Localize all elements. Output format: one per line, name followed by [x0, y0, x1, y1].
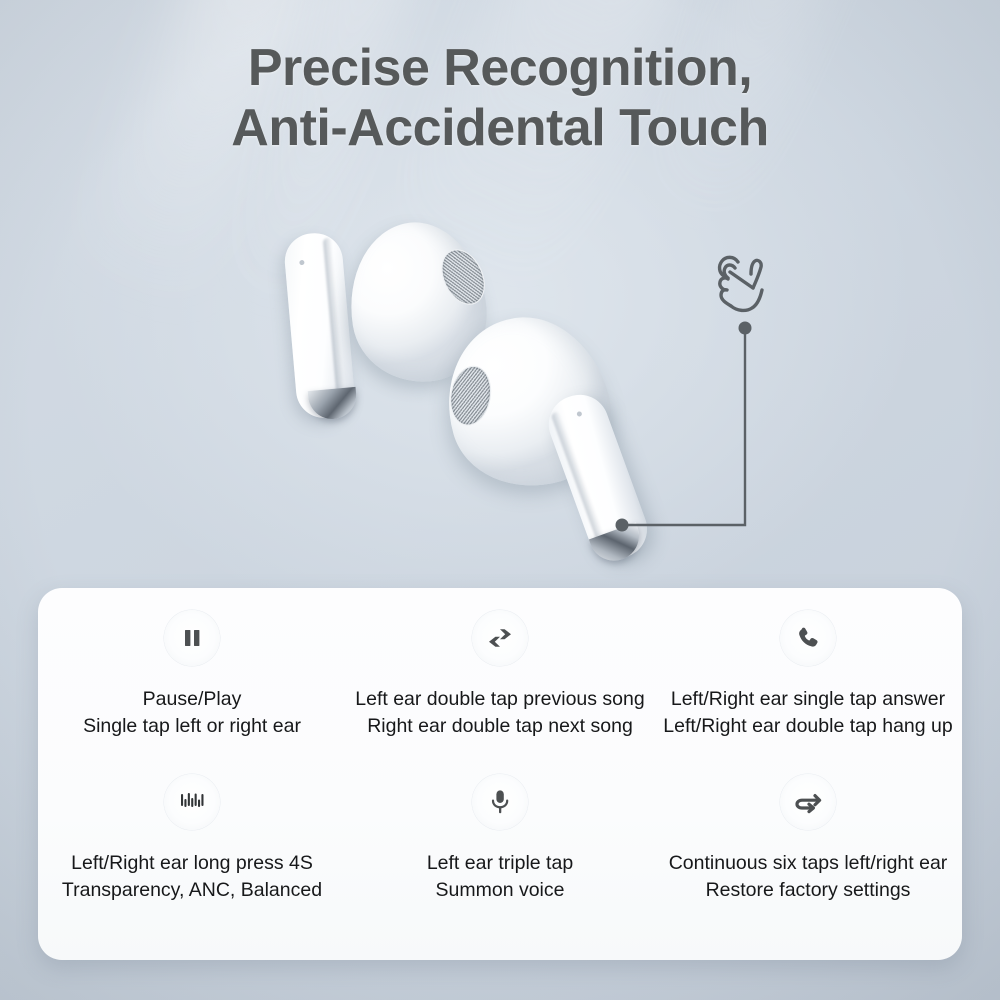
page-title-line-2: Anti-Accidental Touch: [0, 98, 1000, 158]
pause-play-icon: [164, 610, 220, 666]
sound-wave-bars-icon: [164, 774, 220, 830]
controls-row-2: Left/Right ear long press 4S Transparenc…: [38, 774, 962, 904]
control-item-pause-play[interactable]: Pause/Play Single tap left or right ear: [38, 610, 346, 740]
caption-line-1: Left/Right ear single tap answer: [671, 688, 945, 710]
swap-arrows-glyph: [485, 625, 515, 651]
control-item-voice-assistant[interactable]: Left ear triple tap Summon voice: [346, 774, 654, 904]
control-caption: Pause/Play Single tap left or right ear: [83, 686, 301, 740]
controls-row-1: Pause/Play Single tap left or right ear …: [38, 610, 962, 740]
control-item-factory-reset[interactable]: Continuous six taps left/right ear Resto…: [654, 774, 962, 904]
microphone-glyph: [488, 788, 512, 816]
loop-arrow-glyph: [793, 789, 823, 815]
control-caption: Left/Right ear single tap answer Left/Ri…: [663, 686, 952, 740]
control-caption: Left/Right ear long press 4S Transparenc…: [62, 850, 322, 904]
control-item-call[interactable]: Left/Right ear single tap answer Left/Ri…: [654, 610, 962, 740]
callout-dot-target: [616, 519, 629, 532]
pause-glyph: [179, 625, 205, 651]
caption-line-2: Right ear double tap next song: [355, 713, 644, 740]
control-caption: Left ear triple tap Summon voice: [427, 850, 573, 904]
caption-line-1: Left ear double tap previous song: [355, 688, 644, 710]
controls-panel: Pause/Play Single tap left or right ear …: [38, 588, 962, 960]
equalizer-glyph: [178, 789, 206, 815]
caption-line-2: Left/Right ear double tap hang up: [663, 713, 952, 740]
caption-line-1: Pause/Play: [143, 688, 242, 710]
callout-elbow-path: [627, 328, 745, 525]
reset-swap-arrow-icon: [780, 774, 836, 830]
caption-line-2: Restore factory settings: [669, 877, 948, 904]
phone-glyph: [795, 625, 822, 652]
control-caption: Continuous six taps left/right ear Resto…: [669, 850, 948, 904]
page-title: Precise Recognition, Anti-Accidental Tou…: [0, 38, 1000, 159]
phone-handset-icon: [780, 610, 836, 666]
callout-connector: [600, 240, 830, 560]
microphone-icon: [472, 774, 528, 830]
double-arrow-horizontal-icon: [472, 610, 528, 666]
caption-line-2: Transparency, ANC, Balanced: [62, 877, 322, 904]
touch-callout: [600, 240, 830, 560]
control-item-track-change[interactable]: Left ear double tap previous song Right …: [346, 610, 654, 740]
caption-line-1: Continuous six taps left/right ear: [669, 852, 948, 874]
control-item-noise-mode[interactable]: Left/Right ear long press 4S Transparenc…: [38, 774, 346, 904]
caption-line-1: Left ear triple tap: [427, 852, 573, 874]
caption-line-2: Summon voice: [427, 877, 573, 904]
page-title-line-1: Precise Recognition,: [248, 39, 752, 97]
caption-line-1: Left/Right ear long press 4S: [71, 852, 313, 874]
control-caption: Left ear double tap previous song Right …: [355, 686, 644, 740]
caption-line-2: Single tap left or right ear: [83, 713, 301, 740]
